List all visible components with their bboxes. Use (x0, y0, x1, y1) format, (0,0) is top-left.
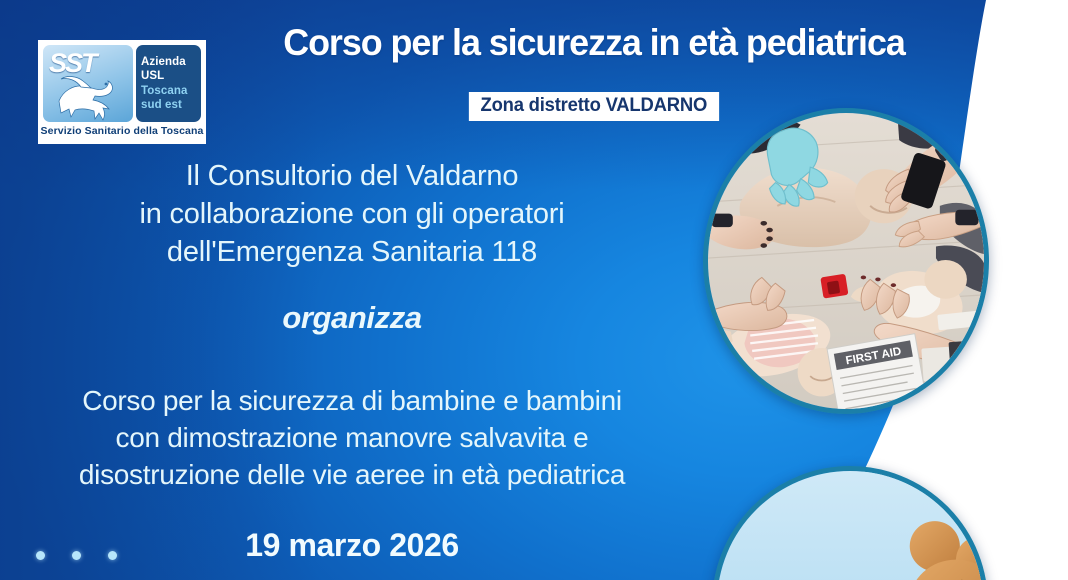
dot-2 (72, 551, 81, 560)
decorative-dots (36, 551, 117, 560)
logo-asl-toscana-sud-est: SST Azienda USL Toscana sud est Servizio… (38, 40, 206, 144)
cpr-training-illustration: FIRST AID (708, 113, 984, 409)
dot-1 (36, 551, 45, 560)
description-line-3: disostruzione delle vie aeree in età ped… (24, 457, 680, 494)
intro-paragraph: Il Consultorio del Valdarno in collabora… (24, 158, 680, 272)
intro-line-1: Il Consultorio del Valdarno (24, 158, 680, 196)
logo-line-toscana: Toscana (141, 84, 196, 98)
dot-3 (108, 551, 117, 560)
logo-line-usl: USL (141, 69, 196, 83)
description-line-1: Corso per la sicurezza di bambine e bamb… (24, 383, 680, 420)
intro-line-2: in collaborazione con gli operatori (24, 196, 680, 234)
logo-footer-band: Servizio Sanitario della Toscana (43, 122, 201, 139)
logo-footer-text: Servizio Sanitario della Toscana (41, 125, 204, 137)
pegasus-icon (47, 67, 129, 121)
zone-badge: Zona distretto VALDARNO (469, 92, 719, 121)
logo-top-row: SST Azienda USL Toscana sud est (43, 45, 201, 122)
pegasus-emblem: SST (43, 45, 133, 122)
photo-cpr-training: FIRST AID (703, 108, 989, 414)
logo-line-sudest: sud est (141, 98, 196, 112)
poster-headline: Corso per la sicurezza in età pediatrica (225, 24, 962, 63)
organizza-word: organizza (24, 300, 680, 336)
intro-line-3: dell'Emergenza Sanitaria 118 (24, 234, 680, 272)
logo-line-azienda: Azienda (141, 55, 196, 69)
event-date: 19 marzo 2026 (24, 527, 680, 564)
poster-canvas: SST Azienda USL Toscana sud est Servizio… (0, 0, 1068, 580)
description-line-2: con dimostrazione manovre salvavita e (24, 420, 680, 457)
description-paragraph: Corso per la sicurezza di bambine e bamb… (24, 383, 680, 494)
logo-text-panel: Azienda USL Toscana sud est (136, 45, 201, 122)
